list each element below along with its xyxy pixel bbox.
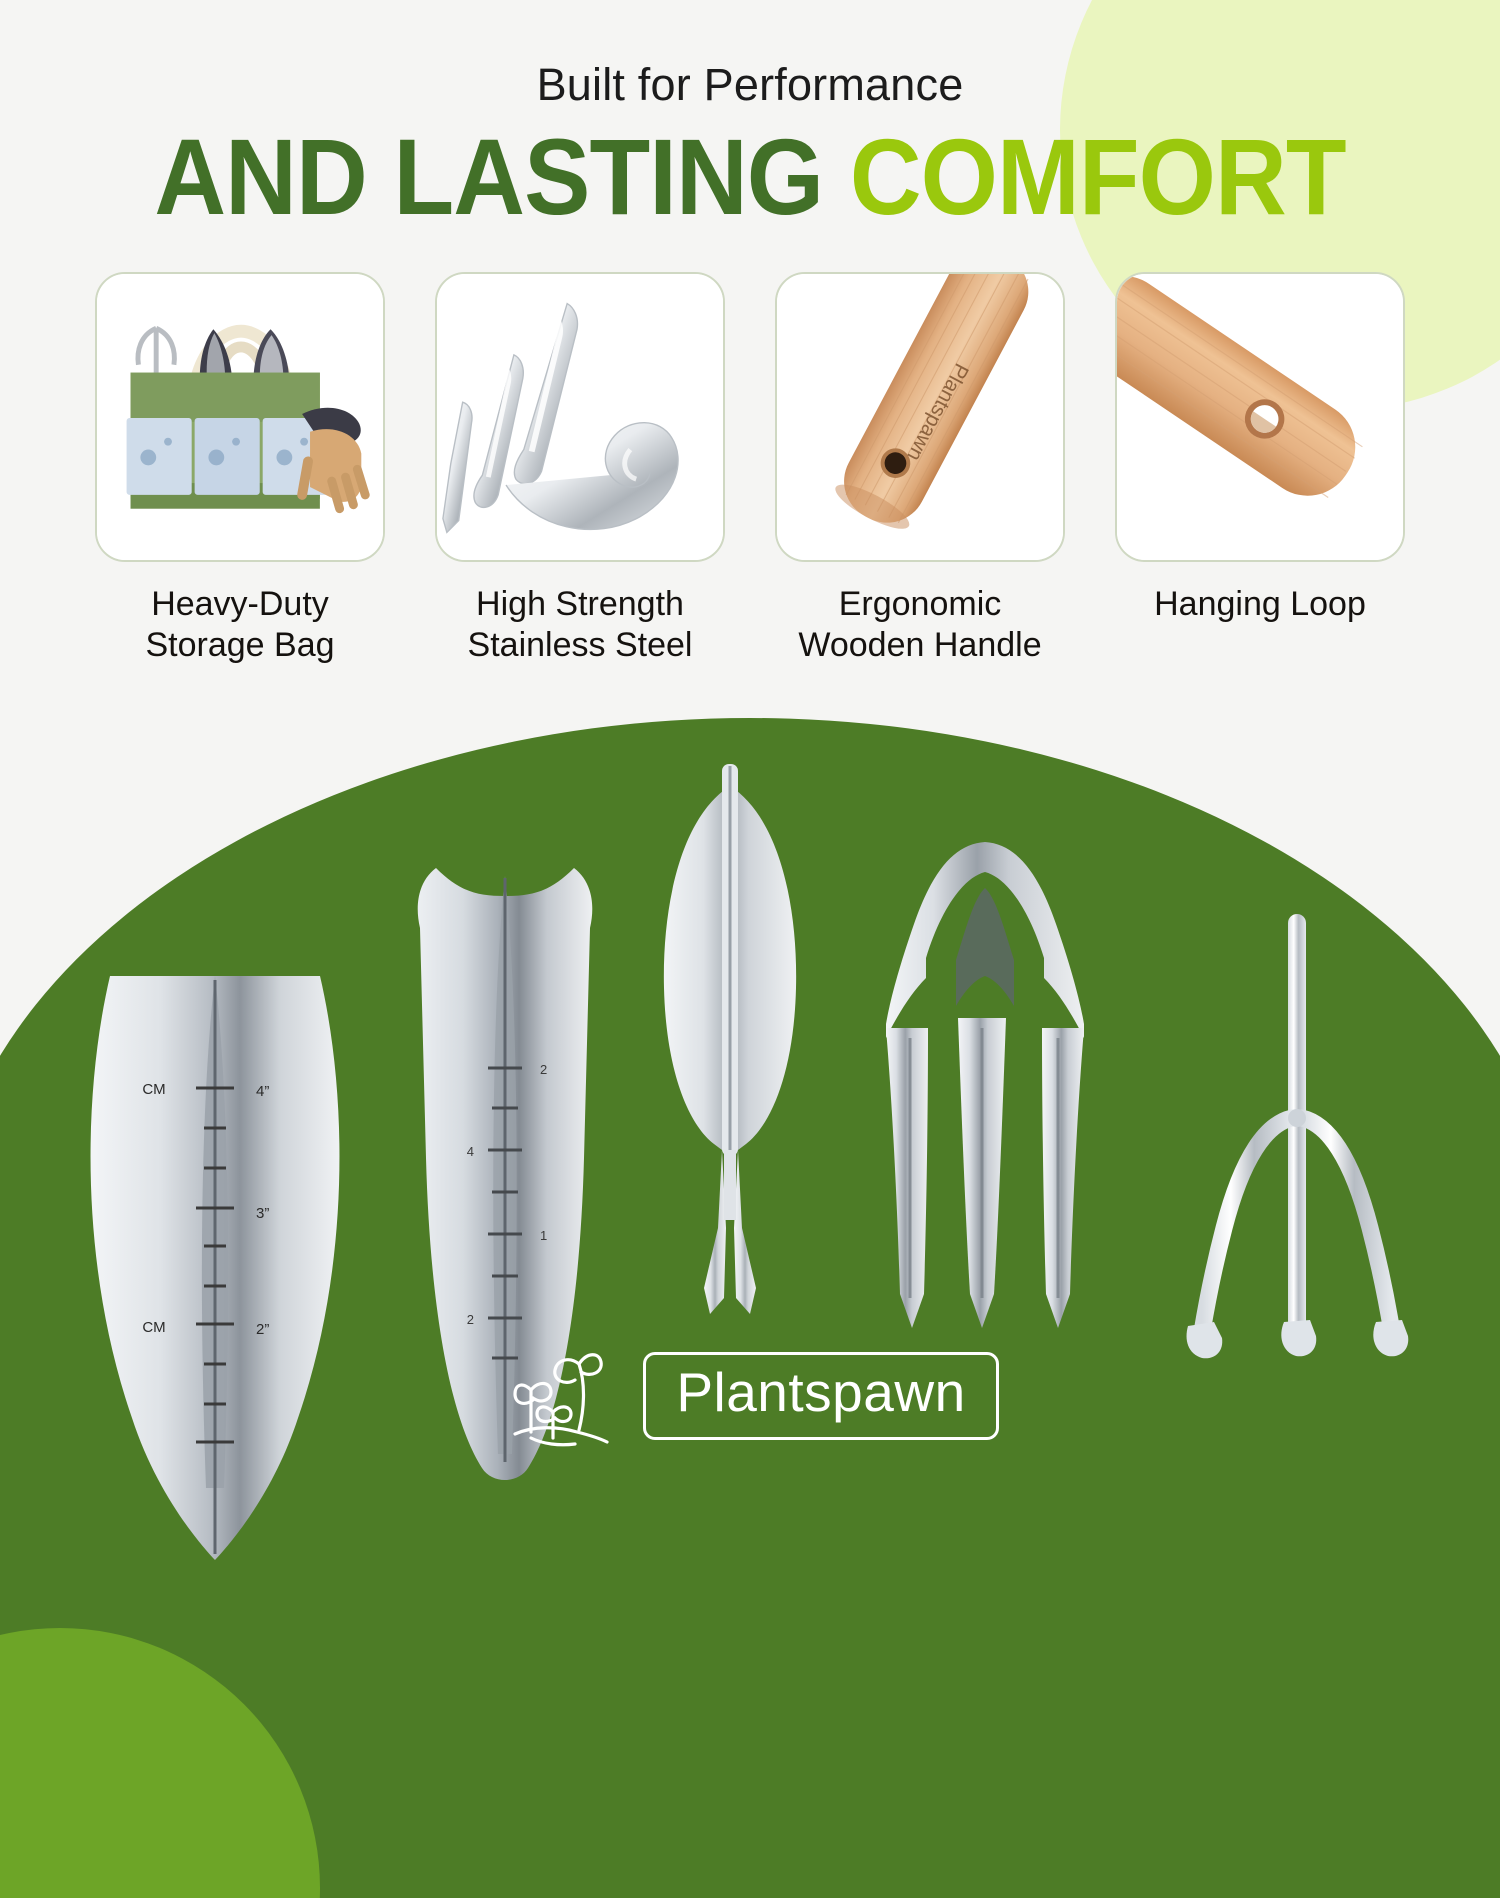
svg-text:2”: 2”	[256, 1321, 269, 1338]
tool-lineup: CM 4” 3” CM 2”	[0, 718, 1500, 1898]
wooden-handle-photo-icon: Plantspawn	[777, 274, 1063, 560]
feature-item-wooden-handle: Plantspawn Ergonomic Wooden Handle	[775, 272, 1065, 667]
product-showcase-panel: CM 4” 3” CM 2”	[0, 718, 1500, 1898]
header-eyebrow: Built for Performance	[0, 62, 1500, 107]
feature-label-stainless-steel: High Strength Stainless Steel	[435, 584, 725, 667]
stainless-fork-photo-icon	[437, 274, 723, 560]
hanging-loop-photo-icon	[1117, 274, 1403, 560]
svg-text:2: 2	[467, 1312, 474, 1327]
wooden-handle-thumbnail: Plantspawn	[775, 272, 1065, 562]
storage-bag-thumbnail	[95, 272, 385, 562]
brand-name-box: Plantspawn	[643, 1352, 998, 1439]
headline-part-primary: AND LASTING	[154, 116, 850, 237]
svg-text:CM: CM	[142, 1319, 165, 1336]
header: Built for Performance AND LASTING COMFOR…	[0, 0, 1500, 230]
feature-label-hanging-loop: Hanging Loop	[1115, 584, 1405, 625]
svg-text:CM: CM	[142, 1081, 165, 1098]
feature-item-hanging-loop: Hanging Loop	[1115, 272, 1405, 667]
stainless-steel-thumbnail	[435, 272, 725, 562]
svg-text:4”: 4”	[256, 1083, 269, 1100]
tool-three-tine-cultivator-fork	[870, 828, 1100, 1358]
storage-bag-photo-icon	[97, 274, 383, 560]
sprout-plant-icon	[501, 1338, 617, 1454]
feature-list: Heavy-Duty Storage Bag	[0, 272, 1500, 667]
page-title: AND LASTING COMFORT	[60, 125, 1440, 230]
brand-lockup: Plantspawn	[0, 1338, 1500, 1454]
tool-three-prong-hand-rake	[1180, 908, 1410, 1378]
headline-part-accent: COMFORT	[850, 116, 1346, 237]
svg-text:4: 4	[467, 1144, 474, 1159]
svg-text:2: 2	[540, 1062, 547, 1077]
feature-item-storage-bag: Heavy-Duty Storage Bag	[95, 272, 385, 667]
feature-label-wooden-handle: Ergonomic Wooden Handle	[775, 584, 1065, 667]
feature-item-stainless-steel: High Strength Stainless Steel	[435, 272, 725, 667]
brand-name: Plantspawn	[676, 1361, 965, 1424]
tool-weeding-fork	[640, 758, 820, 1338]
svg-text:1: 1	[540, 1228, 547, 1243]
tool-wide-garden-trowel: CM 4” 3” CM 2”	[70, 968, 360, 1588]
feature-label-storage-bag: Heavy-Duty Storage Bag	[95, 584, 385, 667]
hanging-loop-thumbnail	[1115, 272, 1405, 562]
svg-text:3”: 3”	[256, 1205, 269, 1222]
